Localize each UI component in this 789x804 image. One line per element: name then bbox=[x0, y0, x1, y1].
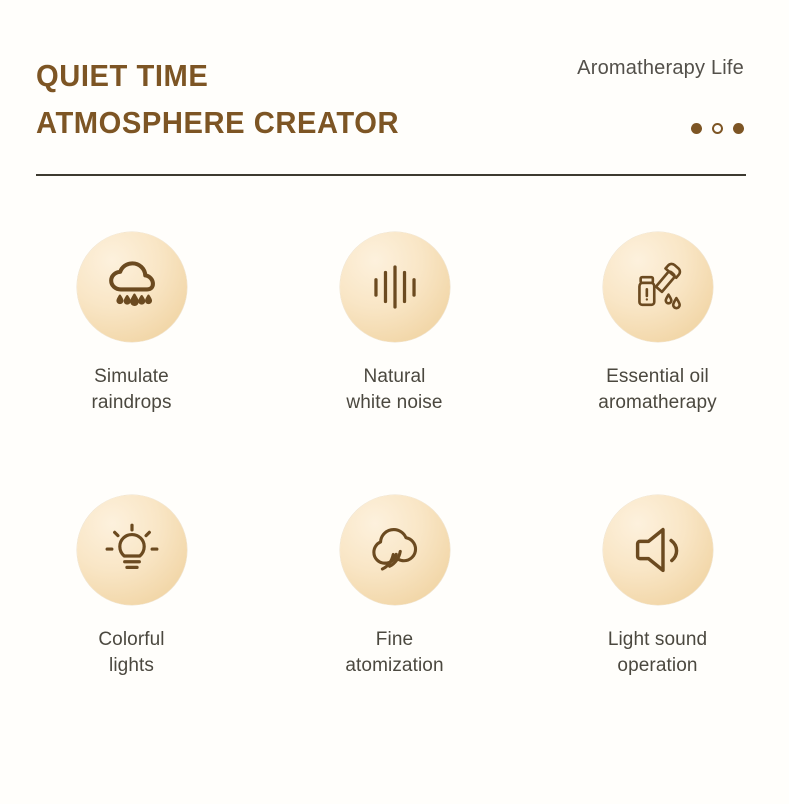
feature-label: Simulate raindrops bbox=[91, 364, 171, 416]
feature-icon-badge bbox=[340, 495, 450, 605]
feature-label: Natural white noise bbox=[346, 364, 442, 416]
feature-label: Colorful lights bbox=[98, 627, 164, 679]
feature-icon-badge bbox=[603, 495, 713, 605]
feature-icon-badge bbox=[603, 232, 713, 342]
light-bulb-icon bbox=[102, 520, 162, 580]
feature-item-colorful-lights[interactable]: Colorful lights bbox=[0, 495, 263, 758]
feature-label: Fine atomization bbox=[345, 627, 443, 679]
page-header: QUIET TIME ATMOSPHERE CREATOR Aromathera… bbox=[0, 0, 789, 180]
sound-wave-icon bbox=[366, 258, 424, 316]
speaker-volume-icon bbox=[629, 521, 687, 579]
page-title: QUIET TIME ATMOSPHERE CREATOR bbox=[36, 52, 422, 146]
page-title-line-1: QUIET TIME bbox=[36, 52, 399, 99]
mist-atomization-icon bbox=[364, 519, 426, 581]
feature-icon-badge bbox=[77, 232, 187, 342]
rain-cloud-icon bbox=[101, 256, 163, 318]
feature-row-1: Simulate raindrops Natural white noi bbox=[0, 232, 789, 495]
page-subtitle: Aromatherapy Life bbox=[577, 57, 744, 80]
feature-grid: Simulate raindrops Natural white noi bbox=[0, 232, 789, 758]
feature-item-essential-oil-aromatherapy[interactable]: Essential oil aromatherapy bbox=[526, 232, 789, 495]
pagination-dots[interactable] bbox=[691, 123, 744, 134]
feature-item-simulate-raindrops[interactable]: Simulate raindrops bbox=[0, 232, 263, 495]
feature-icon-badge bbox=[77, 495, 187, 605]
feature-item-fine-atomization[interactable]: Fine atomization bbox=[263, 495, 526, 758]
feature-label: Essential oil aromatherapy bbox=[598, 364, 716, 416]
pagination-dot-2[interactable] bbox=[712, 123, 723, 134]
feature-label: Light sound operation bbox=[608, 627, 707, 679]
feature-icon-badge bbox=[340, 232, 450, 342]
feature-item-natural-white-noise[interactable]: Natural white noise bbox=[263, 232, 526, 495]
pagination-dot-1[interactable] bbox=[691, 123, 702, 134]
essential-oil-dropper-icon bbox=[628, 257, 688, 317]
pagination-dot-3[interactable] bbox=[733, 123, 744, 134]
product-feature-page: QUIET TIME ATMOSPHERE CREATOR Aromathera… bbox=[0, 0, 789, 804]
header-divider bbox=[36, 174, 746, 176]
feature-item-light-sound-operation[interactable]: Light sound operation bbox=[526, 495, 789, 758]
page-title-line-2: ATMOSPHERE CREATOR bbox=[36, 99, 399, 146]
feature-row-2: Colorful lights Fine bbox=[0, 495, 789, 758]
